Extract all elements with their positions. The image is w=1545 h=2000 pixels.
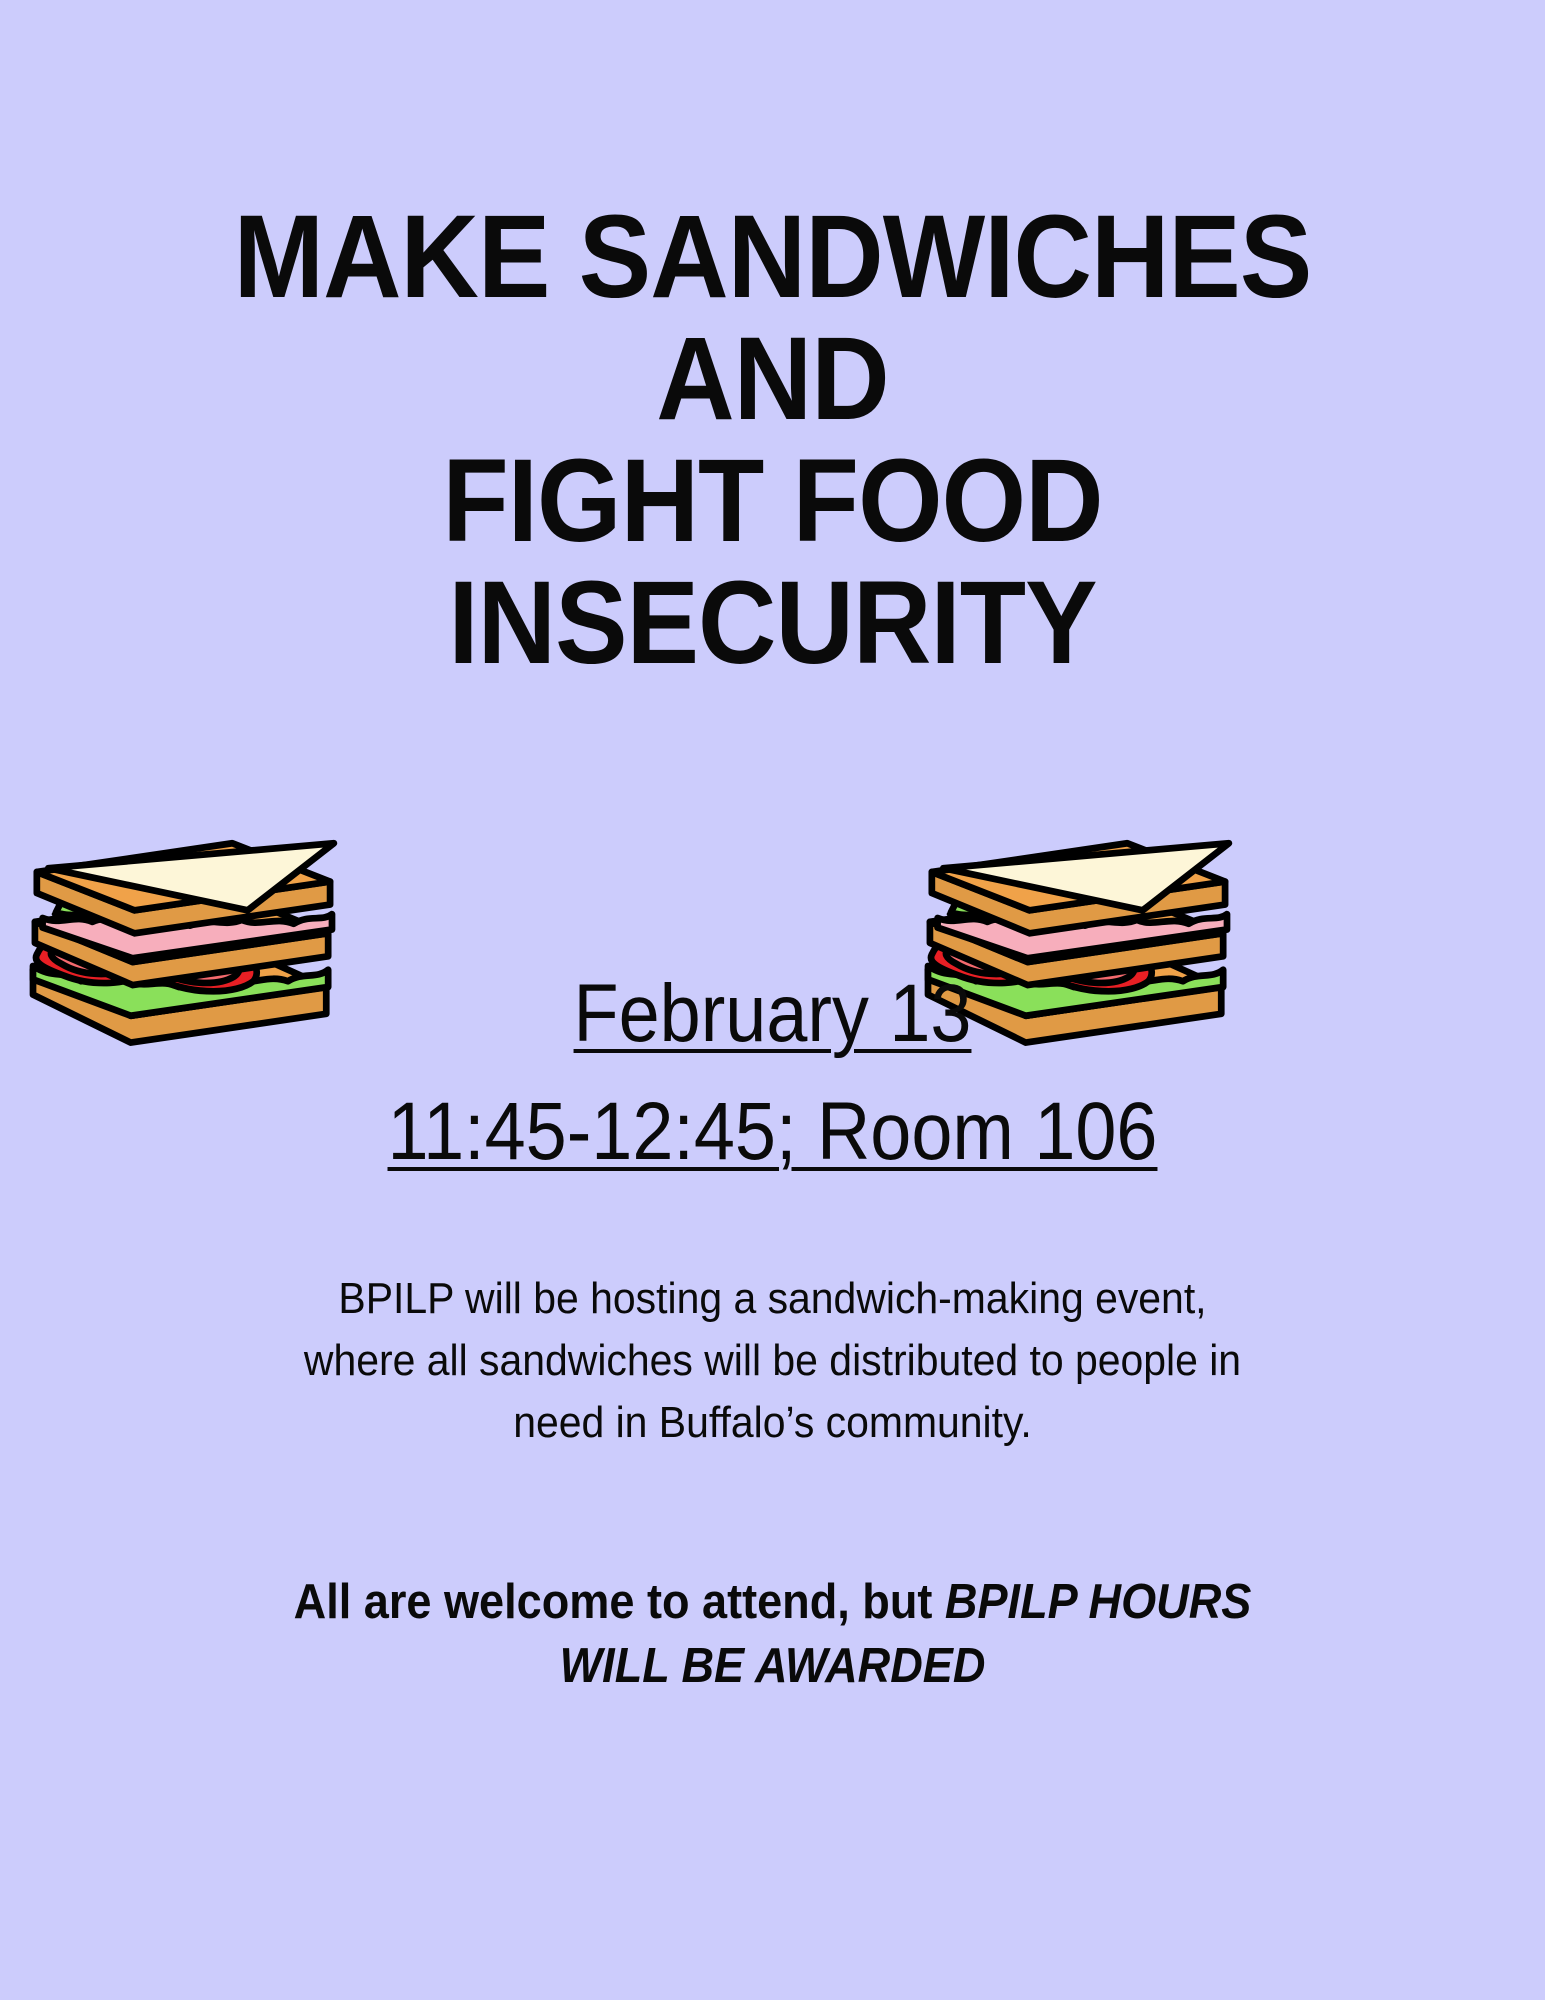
title-line-1: MAKE SANDWICHES (62, 196, 1483, 318)
closing-emphasis-1: BPILP HOURS (945, 1575, 1251, 1629)
event-date: February 13 (574, 968, 972, 1059)
title-line-2: AND (62, 318, 1483, 440)
description-line-2: where all sandwiches will be distributed… (54, 1330, 1491, 1392)
event-description: BPILP will be hosting a sandwich-making … (0, 1268, 1545, 1454)
closing-line-2: WILL BE AWARDED (62, 1634, 1483, 1698)
title-line-4: INSECURITY (62, 562, 1483, 684)
description-line-3: need in Buffalo’s community. (54, 1392, 1491, 1454)
closing-line-1: All are welcome to attend, but BPILP HOU… (62, 1570, 1483, 1634)
event-time-room: 11:45-12:45; Room 106 (388, 1086, 1158, 1177)
closing-plain-text: All are welcome to attend, but (294, 1575, 945, 1629)
poster-canvas: MAKE SANDWICHES AND FIGHT FOOD INSECURIT… (0, 0, 1545, 2000)
title-line-3: FIGHT FOOD (62, 440, 1483, 562)
description-line-1: BPILP will be hosting a sandwich-making … (54, 1268, 1491, 1330)
event-date-line: February 13 (77, 955, 1468, 1073)
closing-note: All are welcome to attend, but BPILP HOU… (0, 1570, 1545, 1698)
event-time-room-line: 11:45-12:45; Room 106 (77, 1073, 1468, 1191)
poster-title: MAKE SANDWICHES AND FIGHT FOOD INSECURIT… (0, 196, 1545, 684)
closing-emphasis-2: WILL BE AWARDED (560, 1639, 986, 1693)
event-details: February 13 11:45-12:45; Room 106 (0, 955, 1545, 1191)
